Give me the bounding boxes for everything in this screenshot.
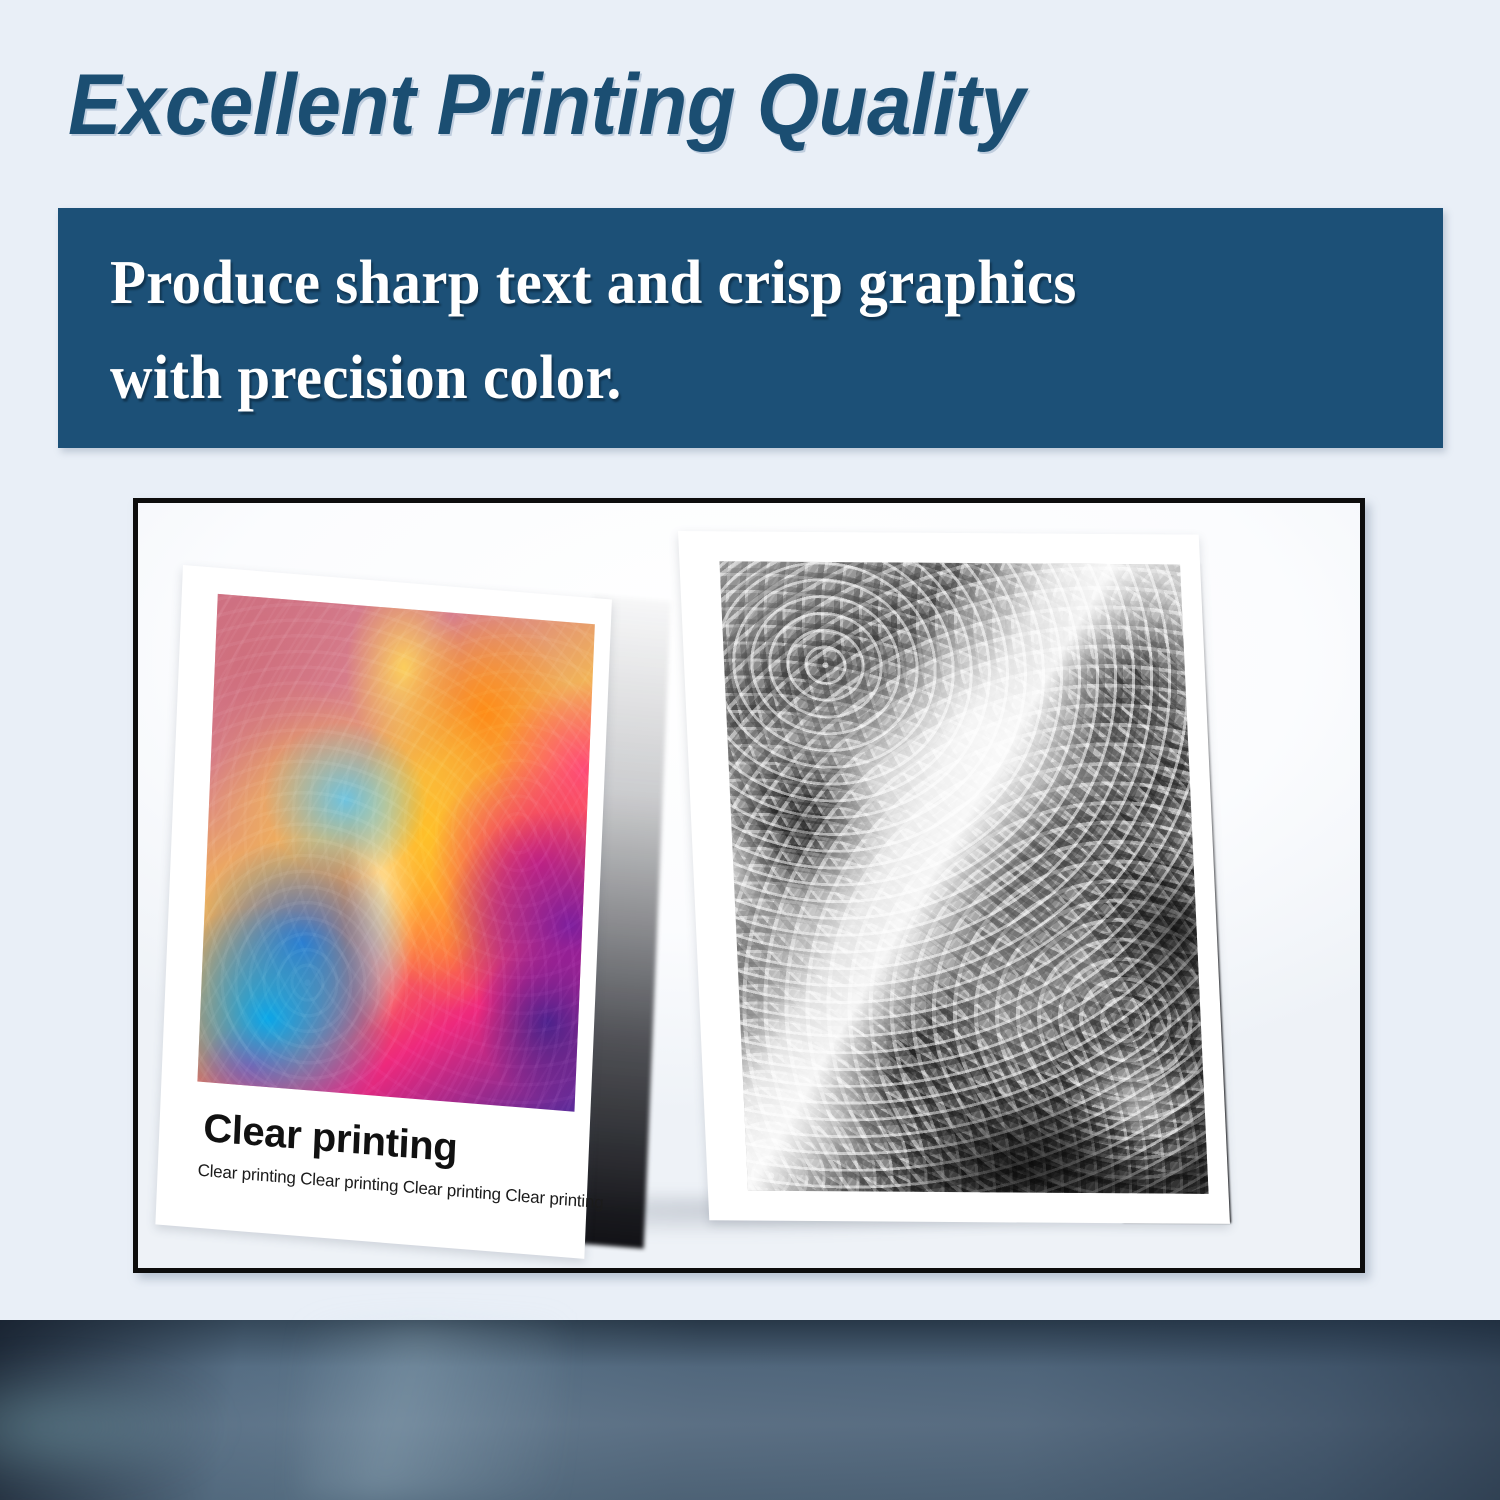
desk-highlight-streak [300,1322,560,1500]
color-print-caption-repeat: Clear printing Clear printing Clear prin… [197,1162,603,1212]
feature-banner: Produce sharp text and crisp graphics wi… [58,208,1443,448]
page-title: Excellent Printing Quality [68,62,1184,148]
color-print-artwork [197,594,594,1112]
feature-banner-text: Produce sharp text and crisp graphics wi… [110,236,1419,426]
feature-banner-line-2: with precision color. [110,331,1354,426]
color-print: Clear printing Clear printing Clear prin… [155,565,612,1259]
feature-banner-line-1: Produce sharp text and crisp graphics [110,236,1354,331]
photo-scene: Clear printing Clear printing Clear prin… [138,503,1360,1268]
product-photo-frame: Clear printing Clear printing Clear prin… [133,498,1365,1273]
product-feature-page: Excellent Printing Quality Produce sharp… [0,0,1500,1500]
grayscale-print [678,531,1230,1224]
grayscale-print-artwork [719,561,1208,1194]
color-print-caption-heading: Clear printing [203,1108,458,1168]
